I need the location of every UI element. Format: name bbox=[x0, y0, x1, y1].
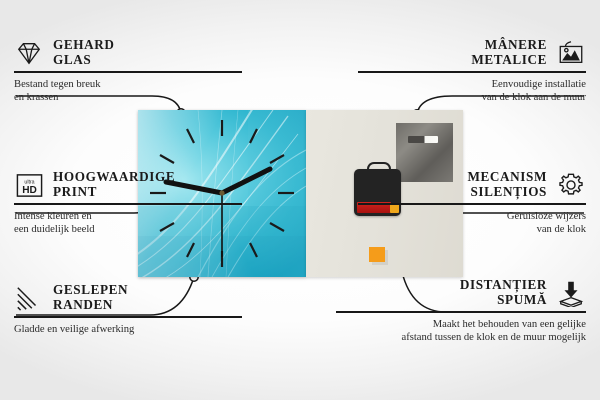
feature-hoogwaardige-print: ultra HD HOOGWAARDIGE PRINT Intense kleu… bbox=[14, 170, 242, 237]
feature-title-line1: MÂNERE bbox=[485, 37, 547, 52]
gear-icon bbox=[556, 170, 586, 200]
foam-spacer bbox=[369, 247, 385, 262]
feature-divider bbox=[336, 311, 586, 313]
hanger-slot bbox=[408, 136, 438, 143]
feature-gehard-glas: GEHARD GLAS Bestand tegen breuk en krass… bbox=[14, 38, 242, 105]
feature-geslepen-randen: GESLEPEN RANDEN Gladde en veilige afwerk… bbox=[14, 283, 242, 336]
feature-mecanism-silentios: MECANISM SILENȚIOS Geruisloze wijzers va… bbox=[456, 170, 586, 237]
feature-title-line1: HOOGWAARDIGE bbox=[53, 169, 175, 184]
feature-title-line2: SPUMĂ bbox=[497, 292, 547, 307]
picture-frame-hanger-icon bbox=[556, 38, 586, 68]
infographic-canvas: GEHARD GLAS Bestand tegen breuk en krass… bbox=[0, 0, 600, 400]
feature-title-line2: RANDEN bbox=[53, 297, 113, 312]
feature-divider bbox=[358, 203, 586, 205]
feature-title-line2: SILENȚIOS bbox=[470, 184, 547, 199]
feature-divider bbox=[14, 203, 242, 205]
feature-title-line1: GEHARD bbox=[53, 37, 114, 52]
feature-title-line1: MECANISM bbox=[467, 169, 547, 184]
down-arrow-pad-icon bbox=[556, 278, 586, 308]
feature-desc-line1: Bestand tegen breuk bbox=[14, 78, 242, 92]
feature-desc-line2: afstand tussen de klok en de muur mogeli… bbox=[336, 331, 586, 345]
feature-manere-metalice: MÂNERE METALICE Eenvoudige installatie v… bbox=[456, 38, 586, 105]
feature-desc-line2: en krassen bbox=[14, 91, 242, 105]
feature-desc-line2: van de klok aan de muur bbox=[358, 91, 586, 105]
product-clock-back bbox=[306, 110, 463, 277]
feature-divider bbox=[358, 71, 586, 73]
feature-title-line2: PRINT bbox=[53, 184, 97, 199]
feature-desc-line1: Intense kleuren en bbox=[14, 210, 242, 224]
feature-desc-line1: Gladde en veilige afwerking bbox=[14, 323, 242, 337]
feature-title-line1: GESLEPEN bbox=[53, 282, 128, 297]
feature-desc-line1: Geruisloze wijzers bbox=[358, 210, 586, 224]
feature-title-line1: DISTANȚIER bbox=[460, 277, 547, 292]
movement-hanger-hook bbox=[367, 162, 391, 175]
feature-title-line2: GLAS bbox=[53, 52, 91, 67]
feature-divider bbox=[14, 71, 242, 73]
feature-desc-line2: een duidelijk beeld bbox=[14, 223, 242, 237]
feature-desc-line1: Maakt het behouden van een gelijke bbox=[336, 318, 586, 332]
svg-text:HD: HD bbox=[22, 185, 37, 196]
feature-desc-line1: Eenvoudige installatie bbox=[358, 78, 586, 92]
feature-distantier-spuma: DISTANȚIER SPUMĂ Maakt het behouden van … bbox=[456, 278, 586, 345]
feature-title-line2: METALICE bbox=[471, 52, 547, 67]
diagonal-lines-icon bbox=[14, 283, 44, 313]
feature-desc-line2: van de klok bbox=[358, 223, 586, 237]
metal-hanger-plate bbox=[396, 123, 453, 182]
ultra-hd-icon: ultra HD bbox=[14, 170, 44, 200]
diamond-icon bbox=[14, 38, 44, 68]
feature-divider bbox=[14, 316, 242, 318]
